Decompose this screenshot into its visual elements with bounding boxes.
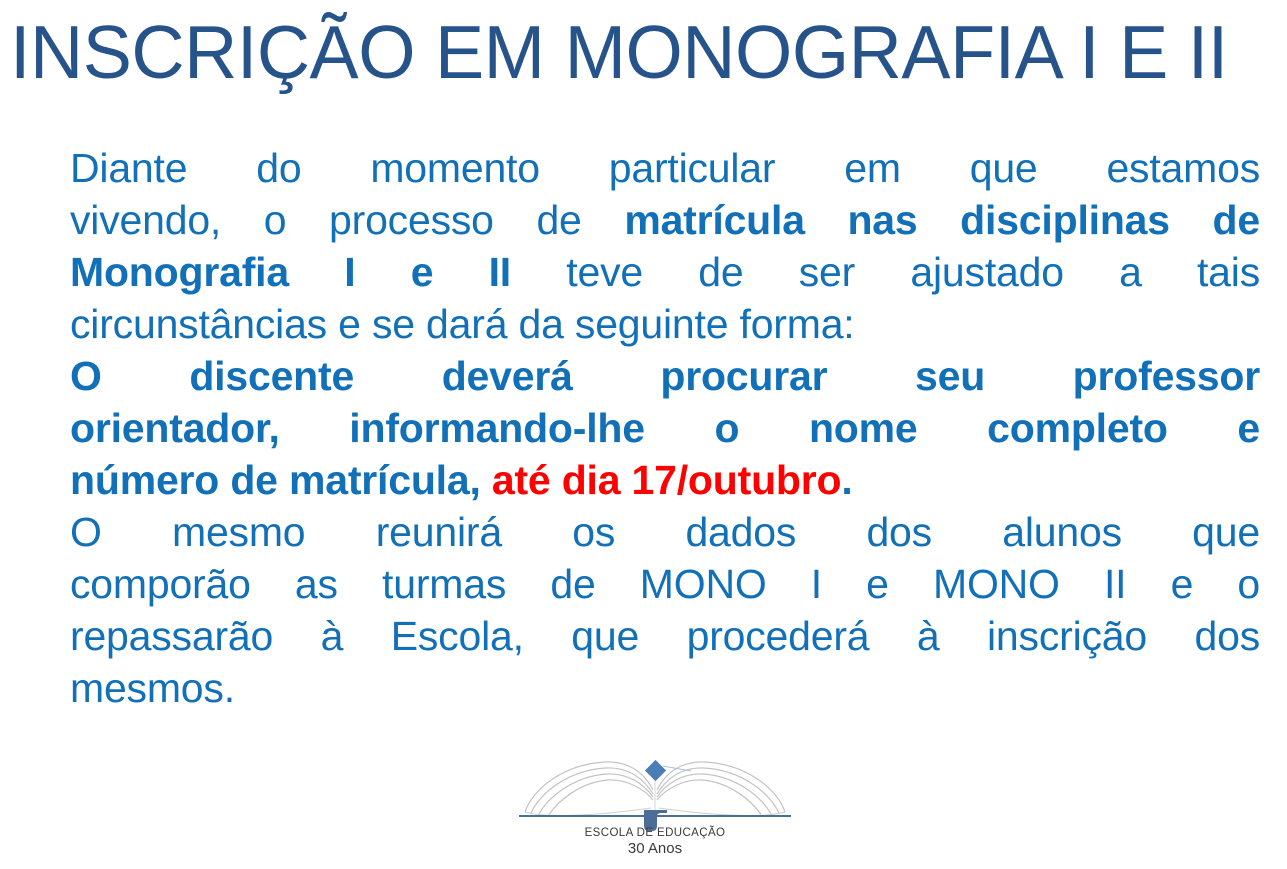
page-title: INSCRIÇÃO EM MONOGRAFIA I E II <box>10 6 1255 98</box>
logo-caption-line-2: 30 Anos <box>505 840 805 857</box>
deadline-highlight: até dia 17/outubro <box>492 457 842 503</box>
paragraph-3-line-3: repassarão à Escola, que procederá à ins… <box>70 610 1260 662</box>
open-book-icon <box>505 752 805 832</box>
logo-caption-line-1: ESCOLA DE EDUCAÇÃO <box>505 826 805 840</box>
paragraph-3-line-2: comporão as turmas de MONO I e MONO II e… <box>70 558 1260 610</box>
escola-de-educacao-logo: ESCOLA DE EDUCAÇÃO 30 Anos <box>505 752 805 864</box>
paragraph-2: O discente deverá procurar seu professor… <box>70 350 1260 506</box>
slide-canvas: INSCRIÇÃO EM MONOGRAFIA I E II Diante do… <box>0 0 1287 869</box>
paragraph-1-line-4: circunstâncias e se dará da seguinte for… <box>70 298 1260 350</box>
paragraph-3-line-4: mesmos. <box>70 662 1260 714</box>
diamond-icon <box>645 760 666 781</box>
paragraph-3-line-1: O mesmo reunirá os dados dos alunos que <box>70 506 1260 558</box>
logo-caption: ESCOLA DE EDUCAÇÃO 30 Anos <box>505 826 805 857</box>
paragraph-1-line-1: Diante do momento particular em que esta… <box>70 142 1260 194</box>
paragraph-2-line-2: orientador, informando-lhe o nome comple… <box>70 402 1260 454</box>
paragraph-1-line-3: Monografia I e II teve de ser ajustado a… <box>70 246 1260 298</box>
paragraph-3: O mesmo reunirá os dados dos alunos que … <box>70 506 1260 714</box>
paragraph-1-line-2: vivendo, o processo de matrícula nas dis… <box>70 194 1260 246</box>
paragraph-1: Diante do momento particular em que esta… <box>70 142 1260 350</box>
paragraph-2-line-3: número de matrícula, até dia 17/outubro. <box>70 454 1260 506</box>
paragraph-2-line-1: O discente deverá procurar seu professor <box>70 350 1260 402</box>
slide-body: Diante do momento particular em que esta… <box>70 142 1260 714</box>
